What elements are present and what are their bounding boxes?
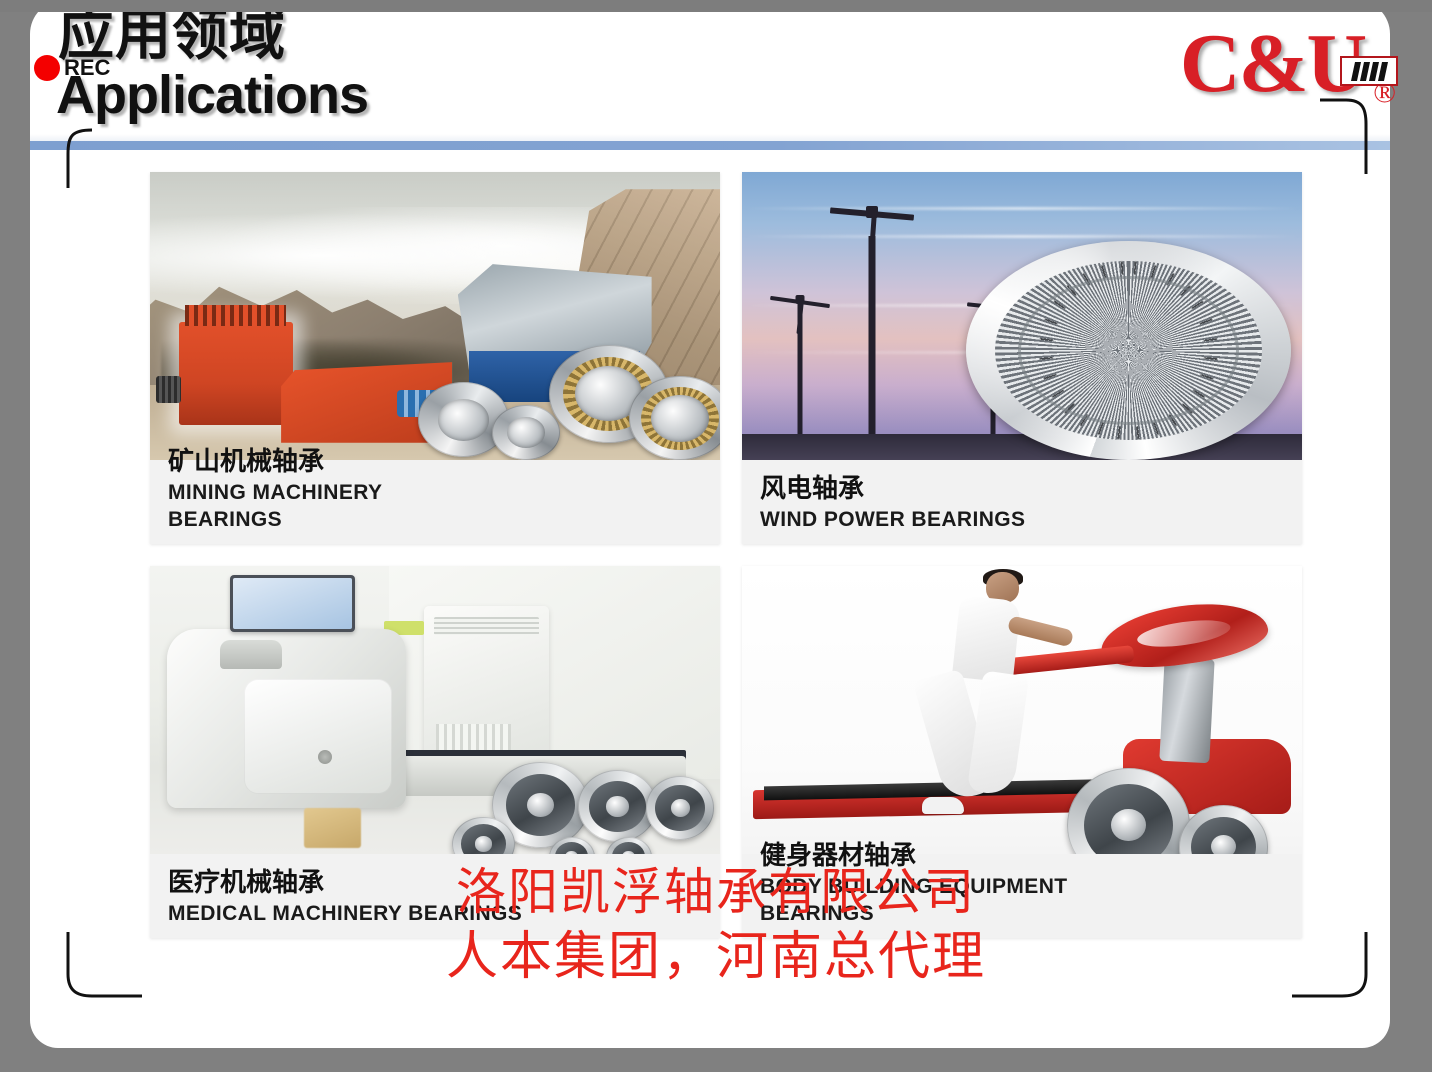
application-card-medical[interactable]: 医疗机械轴承 MEDICAL MACHINERY BEARINGS [150,566,720,938]
mining-photo [150,172,720,460]
divider-soft [30,134,1390,141]
mining-title-en-2: BEARINGS [168,507,720,532]
medical-title-en-1: MEDICAL MACHINERY BEARINGS [168,901,720,926]
application-card-mining[interactable]: 矿山机械轴承 MINING MACHINERY BEARINGS [150,172,720,544]
body-building-title-en-1: BODY BUILDING EQUIPMENT [760,874,1302,899]
application-card-body-building[interactable]: 健身器材轴承 BODY BUILDING EQUIPMENT BEARINGS [742,566,1302,938]
wind-power-caption: 风电轴承 WIND POWER BEARINGS [742,465,1302,544]
top-grey-strip [0,0,1432,12]
record-label: REC [64,55,110,81]
bracket-bottom-right [1290,930,1370,1010]
body-building-photo [742,566,1302,854]
mining-title-en-1: MINING MACHINERY [168,480,720,505]
applications-grid: 矿山机械轴承 MINING MACHINERY BEARINGS [150,172,1302,942]
cu-logo-bars-icon [1340,56,1398,86]
recording-indicator: REC [34,55,110,81]
body-building-caption: 健身器材轴承 BODY BUILDING EQUIPMENT BEARINGS [742,832,1302,938]
slewing-ring-bearing [966,241,1291,460]
slide-panel: 矿山机械轴承 MINING MACHINERY BEARINGS [30,0,1390,1048]
body-building-title-cn: 健身器材轴承 [760,842,1302,872]
bracket-bottom-left [64,930,144,1010]
medical-title-cn: 医疗机械轴承 [168,869,720,899]
medical-caption: 医疗机械轴承 MEDICAL MACHINERY BEARINGS [150,859,720,938]
mining-caption: 矿山机械轴承 MINING MACHINERY BEARINGS [150,438,720,544]
application-card-wind-power[interactable]: 风电轴承 WIND POWER BEARINGS [742,172,1302,544]
cu-logo-text: C&U [1180,24,1365,104]
body-building-title-en-2: BEARINGS [760,901,1302,926]
wind-power-photo [742,172,1302,460]
medical-photo [150,566,720,854]
wind-power-title-en-1: WIND POWER BEARINGS [760,507,1302,532]
bracket-top-right [1318,96,1378,176]
header-divider [30,141,1390,150]
bracket-top-left [58,128,98,188]
record-dot-icon [34,55,60,81]
wind-power-title-cn: 风电轴承 [760,475,1302,505]
mining-title-cn: 矿山机械轴承 [168,448,720,478]
